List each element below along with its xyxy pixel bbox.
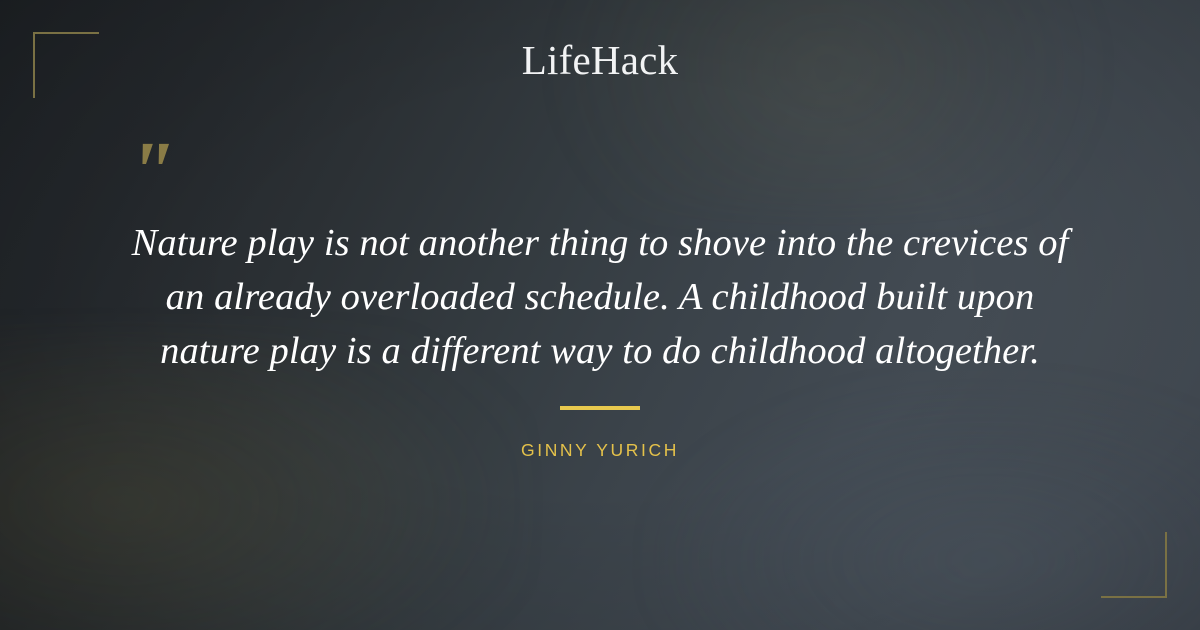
quotation-mark-icon: " xyxy=(127,128,173,214)
brand-logo: LifeHack xyxy=(0,38,1200,82)
corner-bracket-bottom-right-icon xyxy=(1101,532,1167,598)
quote-author: GINNY YURICH xyxy=(0,440,1200,461)
quote-line: nature play is a different way to do chi… xyxy=(70,324,1130,378)
quote-line: an already overloaded schedule. A childh… xyxy=(70,270,1130,324)
divider-rule xyxy=(560,406,640,410)
quote-text: Nature play is not another thing to shov… xyxy=(70,216,1130,378)
quote-card: LifeHack " Nature play is not another th… xyxy=(0,0,1200,630)
quote-line: Nature play is not another thing to shov… xyxy=(70,216,1130,270)
divider-container xyxy=(0,406,1200,424)
